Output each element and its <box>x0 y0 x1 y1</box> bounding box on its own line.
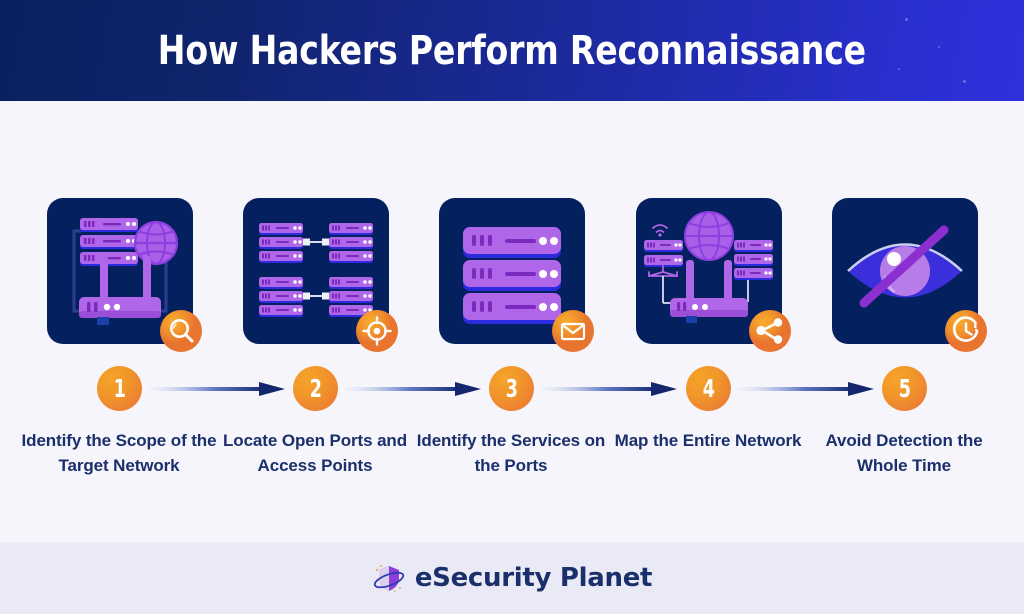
steps-row: 1 Identify the Scope of the Target Netwo… <box>0 101 1024 542</box>
step-number-row: 3 <box>413 366 609 412</box>
header-banner: How Hackers Perform Reconnaissance <box>0 0 1024 101</box>
step-caption: Locate Open Ports and Access Points <box>217 428 413 478</box>
magnifier-icon <box>160 310 202 352</box>
step-number-badge: 5 <box>882 366 927 411</box>
step-number-label: 3 <box>505 376 517 401</box>
step-number-badge: 1 <box>97 366 142 411</box>
infographic-root: How Hackers Perform Reconnaissance <box>0 0 1024 614</box>
step-number-label: 2 <box>309 376 321 401</box>
step-item: 1 Identify the Scope of the Target Netwo… <box>21 101 217 542</box>
step-icon-card <box>636 198 782 344</box>
step-number-badge: 3 <box>489 366 534 411</box>
sparkle-dot <box>905 18 908 21</box>
sparkle-dot <box>938 46 940 48</box>
footer-bar: eSecurity Planet <box>0 542 1024 614</box>
step-caption: Avoid Detection the Whole Time <box>806 428 1002 478</box>
step-number-row: 2 <box>217 366 413 412</box>
step-item: 5 Avoid Detection the Whole Time <box>806 101 1002 542</box>
step-item: 3 Identify the Services on the Ports <box>413 101 609 542</box>
brand-name: eSecurity Planet <box>415 563 652 593</box>
brand-logo[interactable]: eSecurity Planet <box>372 561 652 595</box>
step-number-badge: 2 <box>293 366 338 411</box>
step-number-label: 1 <box>113 376 125 401</box>
page-title: How Hackers Perform Reconnaissance <box>158 28 866 74</box>
clock-icon <box>945 310 987 352</box>
step-item: 2 Locate Open Ports and Access Points <box>217 101 413 542</box>
step-icon-card <box>439 198 585 344</box>
envelope-icon <box>552 310 594 352</box>
step-item: 4 Map the Entire Network <box>610 101 806 542</box>
step-number-label: 5 <box>898 376 910 401</box>
shield-orbit-logo-icon <box>372 561 406 595</box>
step-number-row: 1 <box>21 366 217 412</box>
step-number-badge: 4 <box>686 366 731 411</box>
step-caption: Identify the Services on the Ports <box>413 428 609 478</box>
sparkle-dot <box>898 68 900 70</box>
sparkle-dot <box>963 80 966 83</box>
step-icon-card <box>832 198 978 344</box>
step-number-row: 4 <box>610 366 806 412</box>
step-icon-card <box>243 198 389 344</box>
crosshair-target-icon <box>356 310 398 352</box>
step-caption: Identify the Scope of the Target Network <box>21 428 217 478</box>
step-caption: Map the Entire Network <box>610 428 806 453</box>
share-nodes-icon <box>749 310 791 352</box>
step-icon-card <box>47 198 193 344</box>
step-number-label: 4 <box>702 376 714 401</box>
step-number-row: 5 <box>806 366 1002 412</box>
